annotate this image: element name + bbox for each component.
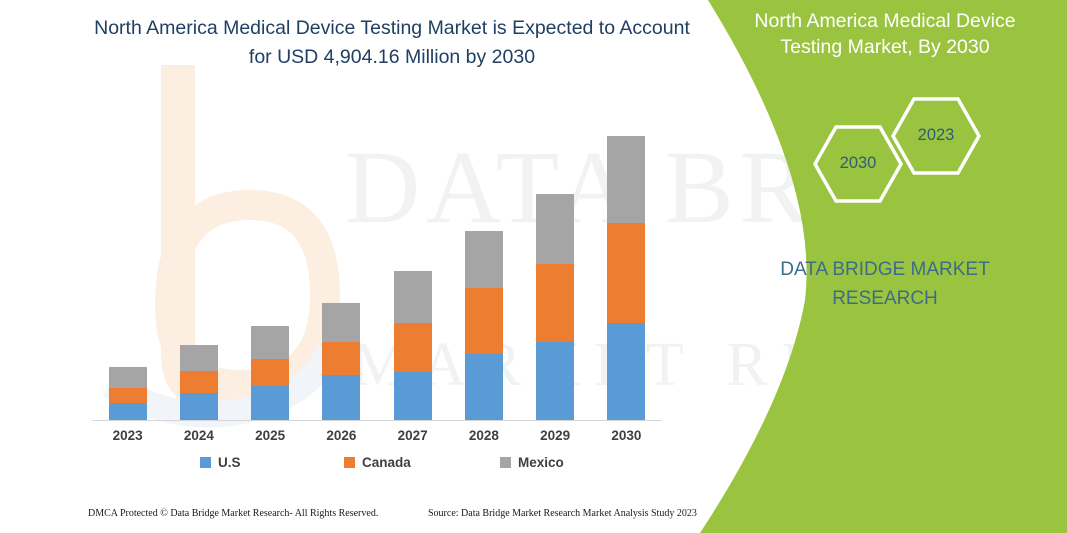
panel-brand-line1: DATA BRIDGE MARKET xyxy=(735,255,1035,284)
x-axis-label: 2028 xyxy=(454,428,514,443)
bar-segment xyxy=(109,367,147,388)
bar-segment xyxy=(180,371,218,393)
bar-segment xyxy=(394,323,432,372)
x-axis-label: 2030 xyxy=(596,428,656,443)
infographic-root: DATA BRIDGE MARKET RESEARCH North Americ… xyxy=(0,0,1067,533)
chart-title: North America Medical Device Testing Mar… xyxy=(92,14,692,72)
x-axis-label: 2029 xyxy=(525,428,585,443)
panel-brand-line2: RESEARCH xyxy=(735,284,1035,313)
legend-item[interactable]: U.S xyxy=(200,455,241,470)
bar-segment xyxy=(322,375,360,420)
bar-segment xyxy=(251,386,289,420)
bar-segment xyxy=(394,372,432,420)
bar-segment xyxy=(180,393,218,420)
bar-stack xyxy=(465,231,503,420)
legend-swatch-icon xyxy=(344,457,355,468)
hexagon-2023: 2023 xyxy=(890,95,982,177)
bar-segment xyxy=(536,194,574,264)
legend-item[interactable]: Mexico xyxy=(500,455,564,470)
bar-segment xyxy=(251,326,289,359)
legend-label: Canada xyxy=(362,455,411,470)
bar-segment xyxy=(322,303,360,342)
bar-segment xyxy=(607,223,645,323)
x-axis-label: 2023 xyxy=(98,428,158,443)
x-axis-label: 2027 xyxy=(383,428,443,443)
bar-segment xyxy=(536,264,574,342)
bar-segment xyxy=(607,323,645,420)
x-axis-label: 2026 xyxy=(311,428,371,443)
bar-segment xyxy=(180,345,218,371)
bar-stack xyxy=(251,326,289,420)
bar-segment xyxy=(465,354,503,420)
bar-segment xyxy=(394,271,432,323)
legend-item[interactable]: Canada xyxy=(344,455,411,470)
bar-stack xyxy=(180,345,218,420)
bar-stack xyxy=(607,136,645,420)
bar-segment xyxy=(536,342,574,420)
x-axis-label: 2025 xyxy=(240,428,300,443)
bar-segment xyxy=(465,288,503,354)
bar-segment xyxy=(109,403,147,420)
x-axis-line xyxy=(92,420,662,421)
bar-segment xyxy=(251,359,289,386)
legend-label: Mexico xyxy=(518,455,564,470)
panel-title: North America Medical Device Testing Mar… xyxy=(735,8,1035,60)
legend-swatch-icon xyxy=(500,457,511,468)
bar-segment xyxy=(322,342,360,375)
green-panel-content: North America Medical Device Testing Mar… xyxy=(687,0,1067,533)
footer-source: Source: Data Bridge Market Research Mark… xyxy=(428,508,697,519)
bar-stack xyxy=(109,367,147,420)
panel-brand: DATA BRIDGE MARKET RESEARCH xyxy=(735,255,1035,313)
hexagon-group: 2030 2023 xyxy=(812,95,1012,205)
footer-copyright: DMCA Protected © Data Bridge Market Rese… xyxy=(88,508,378,519)
bar-stack xyxy=(536,194,574,420)
chart-legend: U.SCanadaMexico xyxy=(92,455,662,477)
bar-segment xyxy=(465,231,503,288)
legend-label: U.S xyxy=(218,455,241,470)
chart-plot-area xyxy=(92,150,662,421)
bar-segment xyxy=(109,388,147,403)
bar-segment xyxy=(607,136,645,223)
hexagon-2023-label: 2023 xyxy=(890,126,982,145)
bar-stack xyxy=(322,303,360,420)
x-axis-label: 2024 xyxy=(169,428,229,443)
x-axis-labels: 20232024202520262027202820292030 xyxy=(92,428,662,450)
bar-stack xyxy=(394,271,432,420)
legend-swatch-icon xyxy=(200,457,211,468)
